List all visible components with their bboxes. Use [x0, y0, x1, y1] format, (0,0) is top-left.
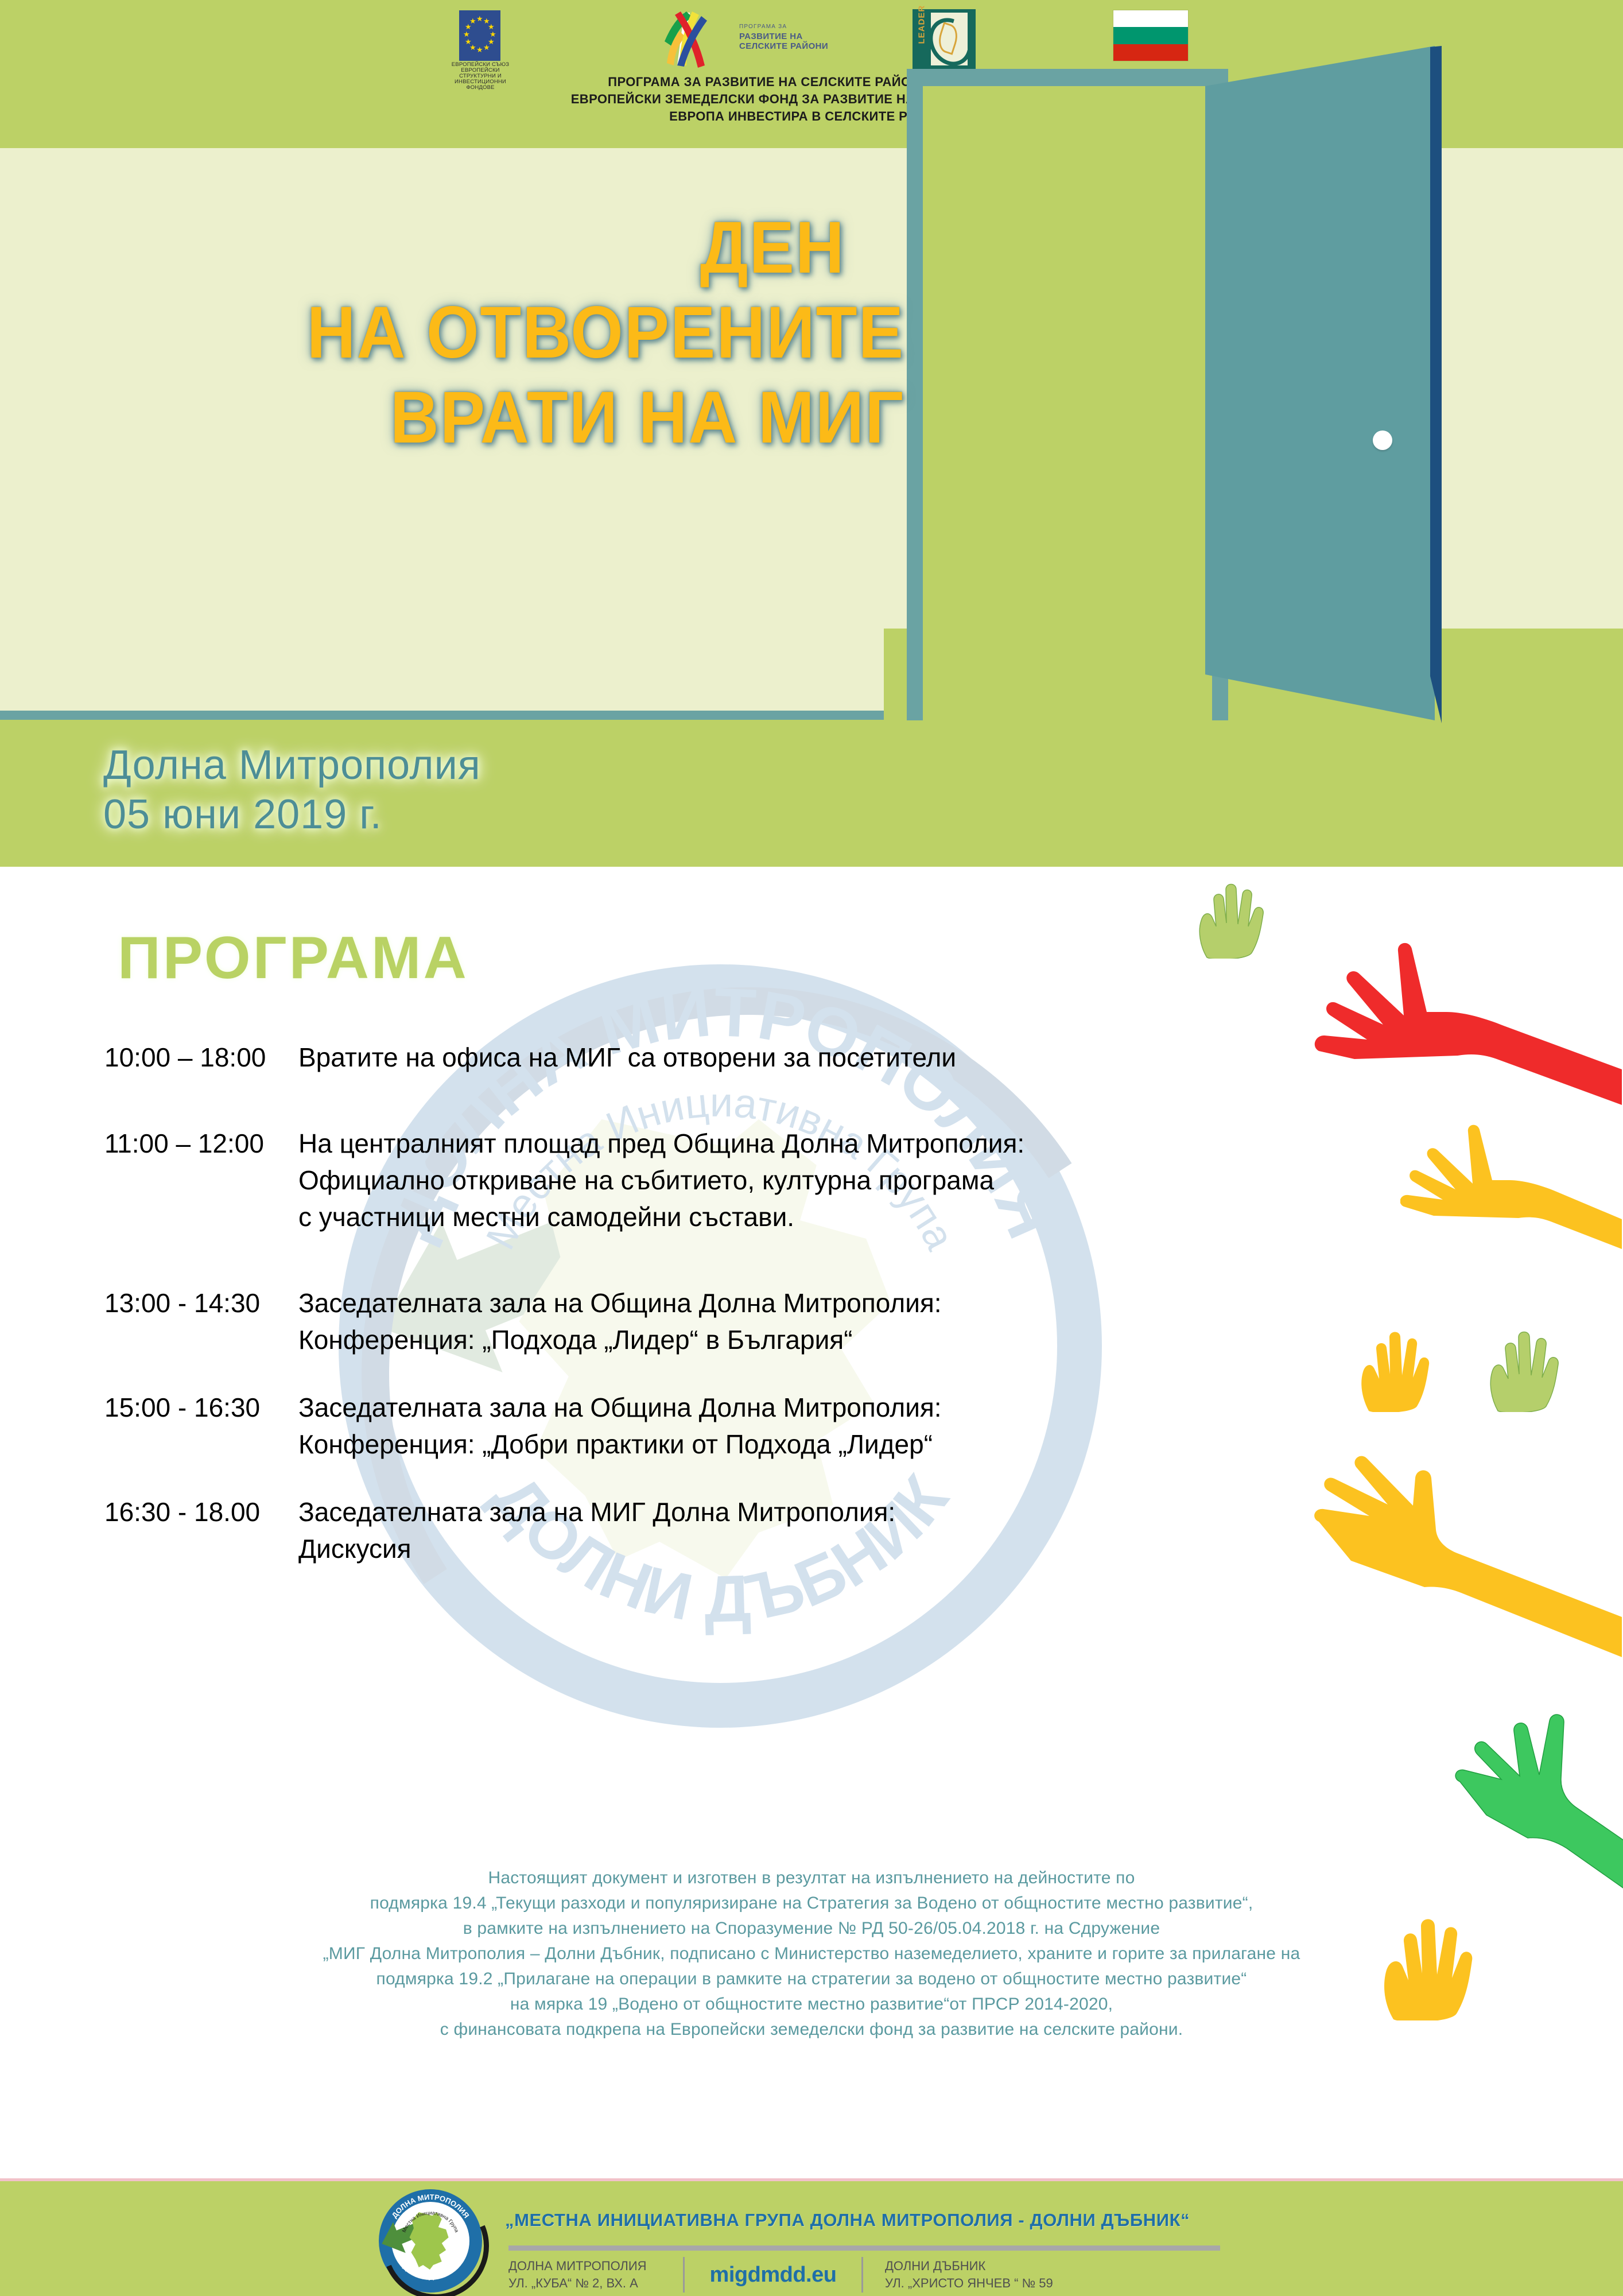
prsr-logo: ПРОГРАМА ЗА РАЗВИТИЕ НА СЕЛСКИТЕ РАЙОНИ: [654, 8, 890, 70]
eu-flag-icon: ★ ★ ★ ★ ★ ★ ★ ★ ★ ★ ★ ★: [459, 10, 500, 61]
footer-contacts: ДОЛНА МИТРОПОЛИЯ УЛ. „КУБА“ № 2, ВХ. А m…: [508, 2256, 1232, 2294]
door-knob-icon: [1373, 430, 1392, 450]
disclaimer-line: в рамките на изпълнението на Споразумени…: [0, 1916, 1623, 1941]
poster-title: ДЕН НА ОТВОРЕНИТЕ ВРАТИ НА МИГ: [0, 205, 930, 460]
schedule-desc-line: Заседателната зала на МИГ Долна Митропол…: [298, 1494, 1623, 1530]
schedule-time: 11:00 – 12:00: [0, 1125, 298, 1235]
open-door-illustration: [884, 23, 1623, 720]
door-edge: [1430, 46, 1442, 723]
footer-bar: ДОЛНА МИТРОПОЛИЯ ДОЛНИ ДЪБНИК Местна Ини…: [0, 2181, 1623, 2296]
poster-root: ★ ★ ★ ★ ★ ★ ★ ★ ★ ★ ★ ★ ЕВРОПЕЙСКИ СЪЮЗ …: [0, 0, 1623, 2296]
schedule-description: На централният площад пред Община Долна …: [298, 1125, 1623, 1235]
schedule-desc-line: Дискусия: [298, 1530, 1623, 1567]
event-place: Долна Митрополия: [103, 740, 481, 790]
prsr-line-2: РАЗВИТИЕ НА: [739, 32, 828, 41]
contact-divider: [861, 2257, 863, 2293]
svg-text:ДОЛНИ ДЪБНИК: ДОЛНИ ДЪБНИК: [402, 2262, 459, 2281]
schedule-time: 13:00 - 14:30: [0, 1285, 298, 1358]
schedule-desc-line: с участници местни самодейни състави.: [298, 1199, 1623, 1235]
table-row: 15:00 - 16:30 Заседателната зала на Общи…: [0, 1389, 1623, 1463]
main-content: ДОЛНА МИТРОПОЛИЯ ДОЛНИ ДЪБНИК Местна Ини…: [0, 867, 1623, 2181]
funding-disclaimer: Настоящият документ и изготвен в резулта…: [0, 1865, 1623, 2042]
svg-text:Местна Инициативна Група: Местна Инициативна Група: [401, 2210, 460, 2233]
schedule-desc-line: Вратите на офиса на МИГ са отворени за п…: [298, 1039, 1623, 1076]
door-opening: [923, 86, 1212, 720]
title-line-2: НА ОТВОРЕНИТЕ: [75, 290, 930, 375]
table-row: 10:00 – 18:00 Вратите на офиса на МИГ са…: [0, 1039, 1623, 1076]
schedule-description: Заседателната зала на Община Долна Митро…: [298, 1389, 1623, 1463]
mig-logo-ring-text: ДОЛНА МИТРОПОЛИЯ ДОЛНИ ДЪБНИК Местна Ини…: [379, 2189, 482, 2293]
schedule-description: Заседателната зала на Община Долна Митро…: [298, 1285, 1623, 1358]
mig-logo: ДОЛНА МИТРОПОЛИЯ ДОЛНИ ДЪБНИК Местна Ини…: [379, 2189, 482, 2293]
page-title: ПРОГРАМА: [118, 924, 469, 992]
footer-divider-rule: [508, 2245, 1220, 2251]
hand-olive-small-icon: [1197, 878, 1265, 959]
table-row: 16:30 - 18.00 Заседателната зала на МИГ …: [0, 1494, 1623, 1567]
prsr-line-3: СЕЛСКИТЕ РАЙОНИ: [739, 41, 828, 51]
eu-flag-logo: ★ ★ ★ ★ ★ ★ ★ ★ ★ ★ ★ ★ ЕВРОПЕЙСКИ СЪЮЗ …: [459, 10, 500, 65]
door-panel: [1205, 46, 1435, 720]
contact-address-2: ДОЛНИ ДЪБНИК УЛ. „ХРИСТО ЯНЧЕВ “ № 59: [865, 2258, 1115, 2292]
schedule-desc-line: Заседателната зала на Община Долна Митро…: [298, 1389, 1623, 1426]
contact-city-1: ДОЛНА МИТРОПОЛИЯ: [508, 2258, 681, 2275]
event-date: 05 юни 2019 г.: [103, 790, 481, 839]
contact-divider: [683, 2257, 685, 2293]
prsr-ribbon-icon: [654, 8, 740, 70]
organization-name: „МЕСТНА ИНИЦИАТИВНА ГРУПА ДОЛНА МИТРОПОЛ…: [505, 2210, 1190, 2231]
prsr-logo-text: ПРОГРАМА ЗА РАЗВИТИЕ НА СЕЛСКИТЕ РАЙОНИ: [739, 22, 828, 51]
table-row: 13:00 - 14:30 Заседателната зала на Общи…: [0, 1285, 1623, 1358]
prsr-line-1: ПРОГРАМА ЗА: [739, 22, 828, 32]
schedule-description: Вратите на офиса на МИГ са отворени за п…: [298, 1039, 1623, 1076]
schedule-desc-line: На централният площад пред Община Долна …: [298, 1125, 1623, 1162]
title-line-3: ВРАТИ НА МИГ: [75, 375, 930, 460]
schedule-time: 15:00 - 16:30: [0, 1389, 298, 1463]
schedule-description: Заседателната зала на МИГ Долна Митропол…: [298, 1494, 1623, 1567]
schedule-desc-line: Официално откриване на събитието, култур…: [298, 1162, 1623, 1199]
program-schedule: 10:00 – 18:00 Вратите на офиса на МИГ са…: [0, 1039, 1623, 1598]
contact-street-1: УЛ. „КУБА“ № 2, ВХ. А: [508, 2275, 681, 2292]
schedule-desc-line: Заседателната зала на Община Долна Митро…: [298, 1285, 1623, 1321]
disclaimer-line: с финансовата подкрепа на Европейски зем…: [0, 2017, 1623, 2042]
disclaimer-line: Настоящият документ и изготвен в резулта…: [0, 1865, 1623, 1891]
schedule-time: 10:00 – 18:00: [0, 1039, 298, 1076]
disclaimer-line: подмярка 19.4 „Текущи разходи и популяри…: [0, 1891, 1623, 1916]
disclaimer-line: „МИГ Долна Митрополия – Долни Дъбник, по…: [0, 1941, 1623, 1967]
website-link[interactable]: migdmdd.eu: [687, 2266, 859, 2283]
title-line-1: ДЕН: [75, 205, 930, 290]
contact-street-2: УЛ. „ХРИСТО ЯНЧЕВ “ № 59: [885, 2275, 1115, 2292]
schedule-desc-line: Конференция: „Подхода „Лидер“ в България…: [298, 1321, 1623, 1358]
schedule-desc-line: Конференция: „Добри практики от Подхода …: [298, 1426, 1623, 1463]
disclaimer-line: на мярка 19 „Водено от общностите местно…: [0, 1992, 1623, 2017]
event-subtitle: Долна Митрополия 05 юни 2019 г.: [103, 740, 481, 839]
contact-address-1: ДОЛНА МИТРОПОЛИЯ УЛ. „КУБА“ № 2, ВХ. А: [508, 2258, 681, 2292]
table-row: 11:00 – 12:00 На централният площад пред…: [0, 1125, 1623, 1235]
disclaimer-line: подмярка 19.2 „Прилагане на операции в р…: [0, 1967, 1623, 1992]
schedule-time: 16:30 - 18.00: [0, 1494, 298, 1567]
contact-city-2: ДОЛНИ ДЪБНИК: [885, 2258, 1115, 2275]
